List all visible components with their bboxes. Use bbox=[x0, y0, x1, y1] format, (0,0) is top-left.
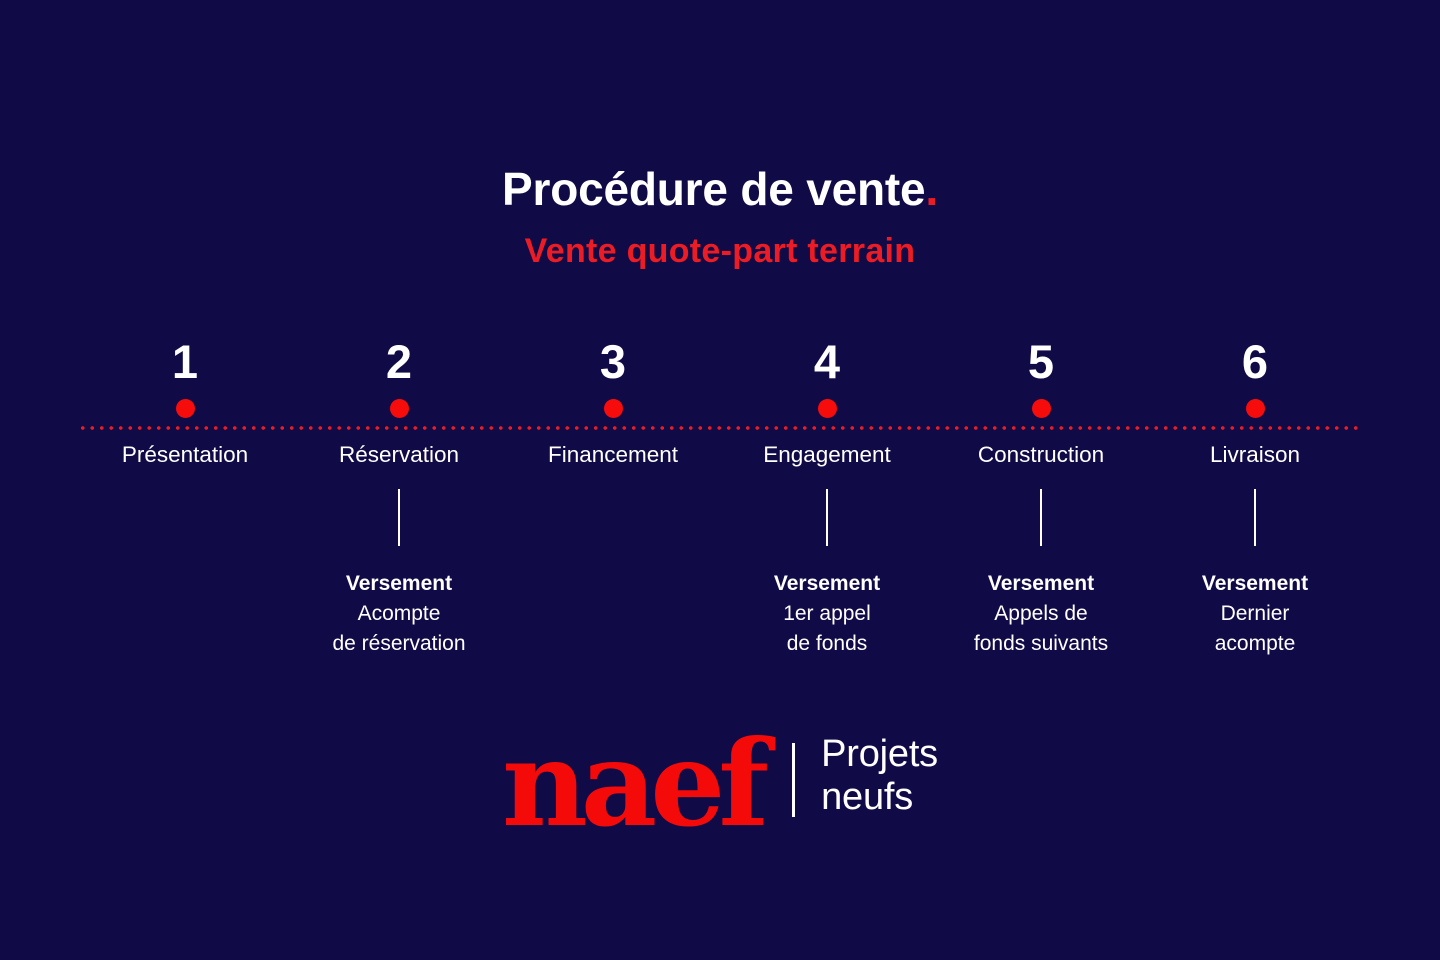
timeline-step[interactable]: 5ConstructionVersementAppels defonds sui… bbox=[932, 338, 1150, 660]
step-payment-detail: VersementAppels defonds suivants bbox=[932, 546, 1150, 660]
step-payment-title: Versement bbox=[290, 569, 508, 599]
step-connector-line bbox=[1040, 489, 1042, 546]
step-payment-title: Versement bbox=[718, 569, 936, 599]
logo-tagline-line-1: Projets bbox=[821, 733, 938, 776]
step-connector-line bbox=[398, 489, 400, 546]
step-number: 3 bbox=[504, 338, 722, 396]
step-payment-title: Versement bbox=[1146, 569, 1364, 599]
logo-divider bbox=[792, 743, 795, 817]
step-node-marker[interactable] bbox=[1146, 396, 1364, 420]
step-connector-line bbox=[1254, 489, 1256, 546]
logo-tagline: Projets neufs bbox=[821, 733, 938, 818]
page-title-accent-dot: . bbox=[925, 163, 938, 215]
step-label: Construction bbox=[932, 420, 1150, 467]
logo-tagline-line-2: neufs bbox=[821, 776, 938, 819]
step-payment-title: Versement bbox=[932, 569, 1150, 599]
step-label: Livraison bbox=[1146, 420, 1364, 467]
timeline-step[interactable]: 4EngagementVersement1er appelde fonds bbox=[718, 338, 936, 660]
step-label: Financement bbox=[504, 420, 722, 467]
header: Procédure de vente. Vente quote-part ter… bbox=[0, 0, 1440, 268]
timeline-step[interactable]: 2RéservationVersementAcomptede réservati… bbox=[290, 338, 508, 660]
step-payment-line: Appels de bbox=[932, 599, 1150, 629]
page-title-text: Procédure de vente bbox=[502, 163, 925, 215]
step-payment-line: 1er appel bbox=[718, 599, 936, 629]
step-node-marker[interactable] bbox=[76, 396, 294, 420]
step-payment-lines: Dernieracompte bbox=[1146, 599, 1364, 660]
step-payment-lines: 1er appelde fonds bbox=[718, 599, 936, 660]
brand-logo-inner: naef Projets neufs bbox=[502, 716, 938, 836]
step-node-marker[interactable] bbox=[290, 396, 508, 420]
step-number: 4 bbox=[718, 338, 936, 396]
step-number: 5 bbox=[932, 338, 1150, 396]
sales-procedure-timeline: 1Présentation2RéservationVersementAcompt… bbox=[78, 338, 1362, 678]
step-label: Réservation bbox=[290, 420, 508, 467]
step-connector-line bbox=[826, 489, 828, 546]
step-node-marker[interactable] bbox=[718, 396, 936, 420]
page-subtitle: Vente quote-part terrain bbox=[0, 212, 1440, 268]
step-payment-detail: VersementAcomptede réservation bbox=[290, 546, 508, 660]
naef-wordmark: naef bbox=[502, 725, 762, 843]
timeline-steps: 1Présentation2RéservationVersementAcompt… bbox=[78, 338, 1362, 678]
step-label: Présentation bbox=[76, 420, 294, 467]
timeline-step[interactable]: 6LivraisonVersementDernieracompte bbox=[1146, 338, 1364, 660]
step-payment-line: de fonds bbox=[718, 629, 936, 659]
step-payment-detail: Versement1er appelde fonds bbox=[718, 546, 936, 660]
step-payment-line: de réservation bbox=[290, 629, 508, 659]
step-label: Engagement bbox=[718, 420, 936, 467]
step-node-marker[interactable] bbox=[504, 396, 722, 420]
step-number: 1 bbox=[76, 338, 294, 396]
brand-logo: naef Projets neufs bbox=[0, 716, 1440, 836]
step-number: 6 bbox=[1146, 338, 1364, 396]
page-title: Procédure de vente. bbox=[0, 0, 1440, 212]
step-node-marker[interactable] bbox=[932, 396, 1150, 420]
step-payment-line: Dernier bbox=[1146, 599, 1364, 629]
step-payment-lines: Acomptede réservation bbox=[290, 599, 508, 660]
step-payment-detail: VersementDernieracompte bbox=[1146, 546, 1364, 660]
timeline-step[interactable]: 1Présentation bbox=[76, 338, 294, 569]
step-number: 2 bbox=[290, 338, 508, 396]
step-payment-lines: Appels defonds suivants bbox=[932, 599, 1150, 660]
step-payment-line: acompte bbox=[1146, 629, 1364, 659]
step-payment-line: Acompte bbox=[290, 599, 508, 629]
timeline-step[interactable]: 3Financement bbox=[504, 338, 722, 569]
step-payment-line: fonds suivants bbox=[932, 629, 1150, 659]
